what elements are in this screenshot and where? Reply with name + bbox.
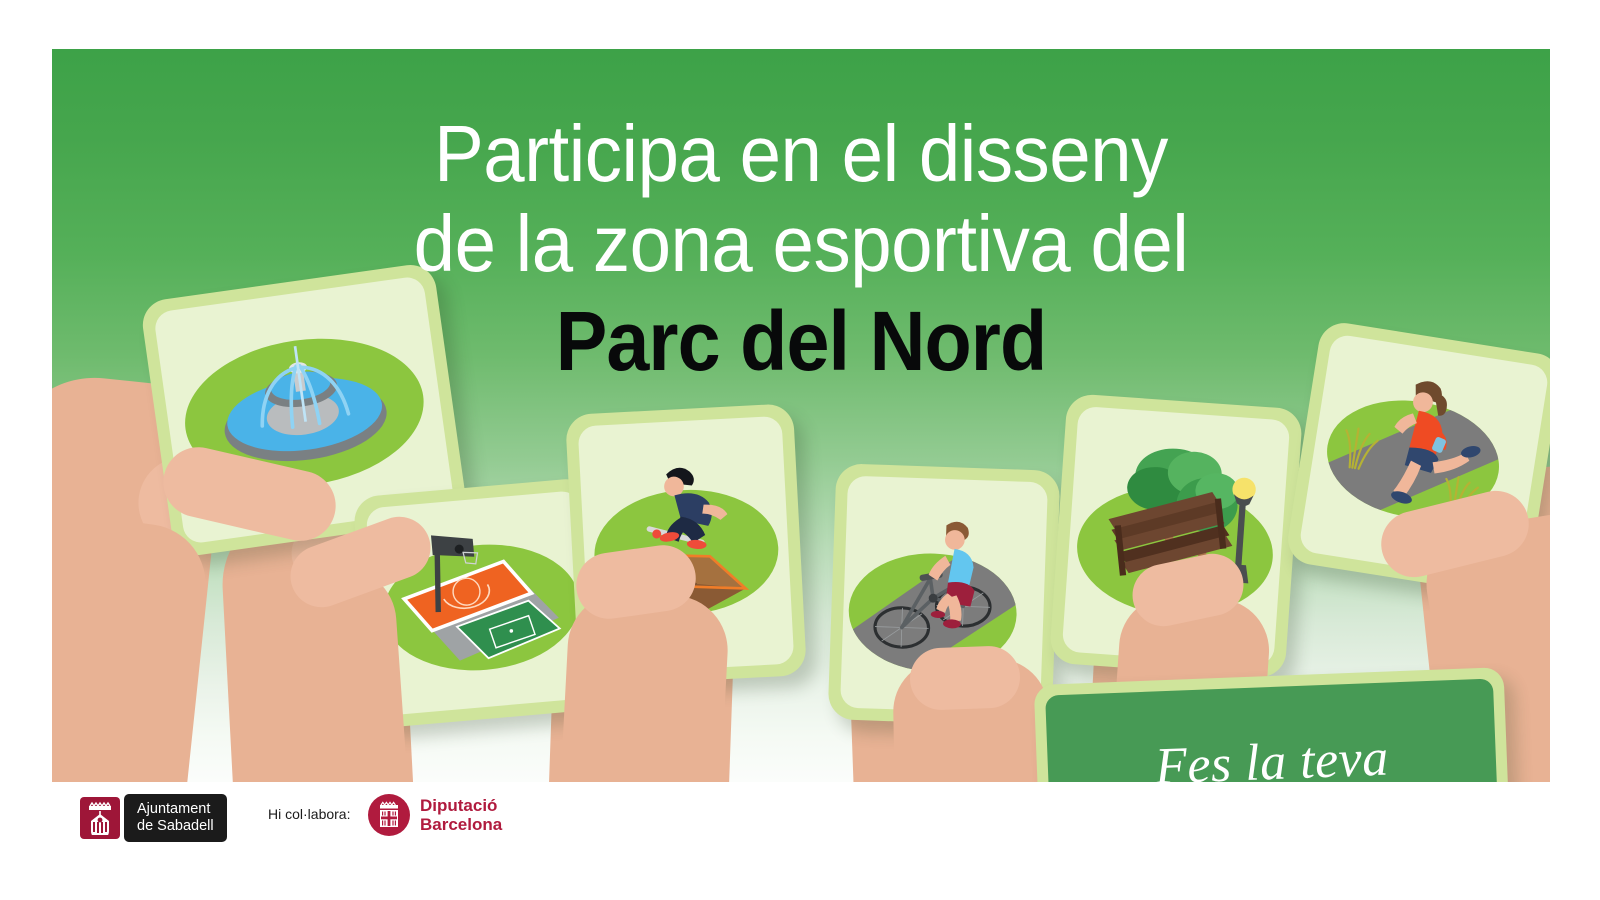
diputacio-line-2: Barcelona (420, 815, 502, 834)
ajuntament-label: Ajuntament de Sabadell (124, 794, 227, 842)
ajuntament-sabadell-logo[interactable]: Ajuntament de Sabadell (80, 794, 227, 842)
ajuntament-line-1: Ajuntament (137, 801, 210, 817)
collaborates-label-row: Hi col·labora: (268, 806, 350, 822)
diputacio-barcelona-logo[interactable]: Diputació Barcelona (368, 794, 502, 836)
ajuntament-line-2: de Sabadell (137, 818, 214, 834)
banner-canvas: Participa en el disseny de la zona espor… (0, 0, 1600, 900)
footer-logos: Ajuntament de Sabadell Hi col·labora: (0, 782, 1600, 900)
arm-center-skate (558, 590, 731, 782)
diputacio-line-1: Diputació (420, 796, 497, 815)
green-banner-panel: Participa en el disseny de la zona espor… (52, 49, 1550, 782)
collaborates-label: Hi col·labora: (268, 806, 350, 822)
diputacio-crest-icon (368, 794, 410, 836)
hand-center-bike-index-finger (909, 645, 1021, 711)
diputacio-label: Diputació Barcelona (420, 796, 502, 834)
sabadell-crest-icon (80, 797, 120, 839)
headline-line-2: de la zona esportiva del (104, 199, 1497, 289)
headline-line-1: Participa en el disseny (104, 109, 1497, 199)
